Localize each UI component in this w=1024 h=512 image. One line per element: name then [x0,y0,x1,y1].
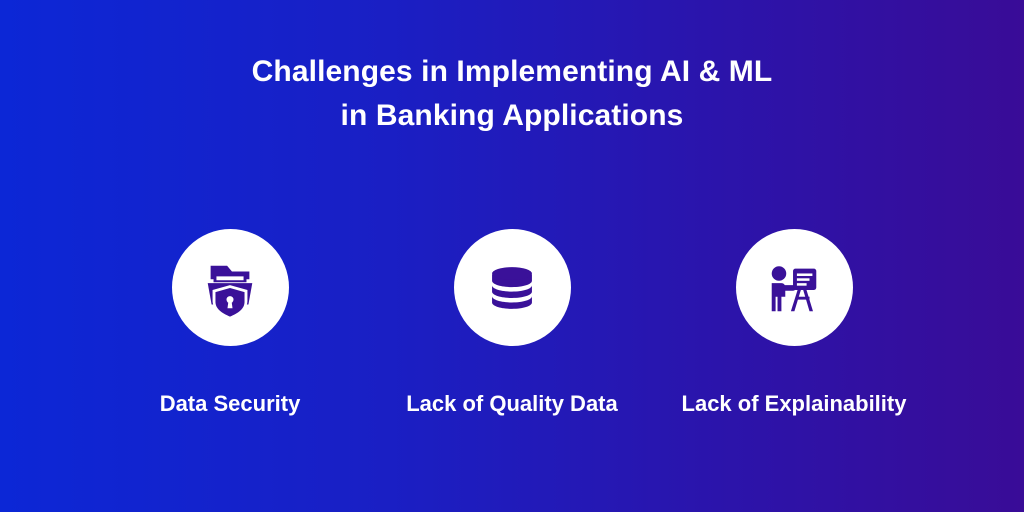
card-label: Lack of Explainability [682,391,907,417]
challenge-card-explainability: Lack of Explainability [660,229,928,417]
icon-badge [172,229,289,346]
database-stack-icon [483,259,541,317]
card-label: Data Security [160,391,301,417]
title-line-1: Challenges in Implementing AI & ML [0,50,1024,94]
page-title: Challenges in Implementing AI & ML in Ba… [0,50,1024,138]
challenge-card-list: Data Security [96,229,928,417]
challenge-card-quality-data: Lack of Quality Data [378,229,646,417]
infographic-canvas: Challenges in Implementing AI & ML in Ba… [0,0,1024,512]
icon-badge [454,229,571,346]
folder-shield-lock-icon [199,257,261,319]
presenter-flipchart-icon [763,257,825,319]
icon-badge [736,229,853,346]
title-line-2: in Banking Applications [0,94,1024,138]
challenge-card-data-security: Data Security [96,229,364,417]
card-label: Lack of Quality Data [406,391,618,417]
